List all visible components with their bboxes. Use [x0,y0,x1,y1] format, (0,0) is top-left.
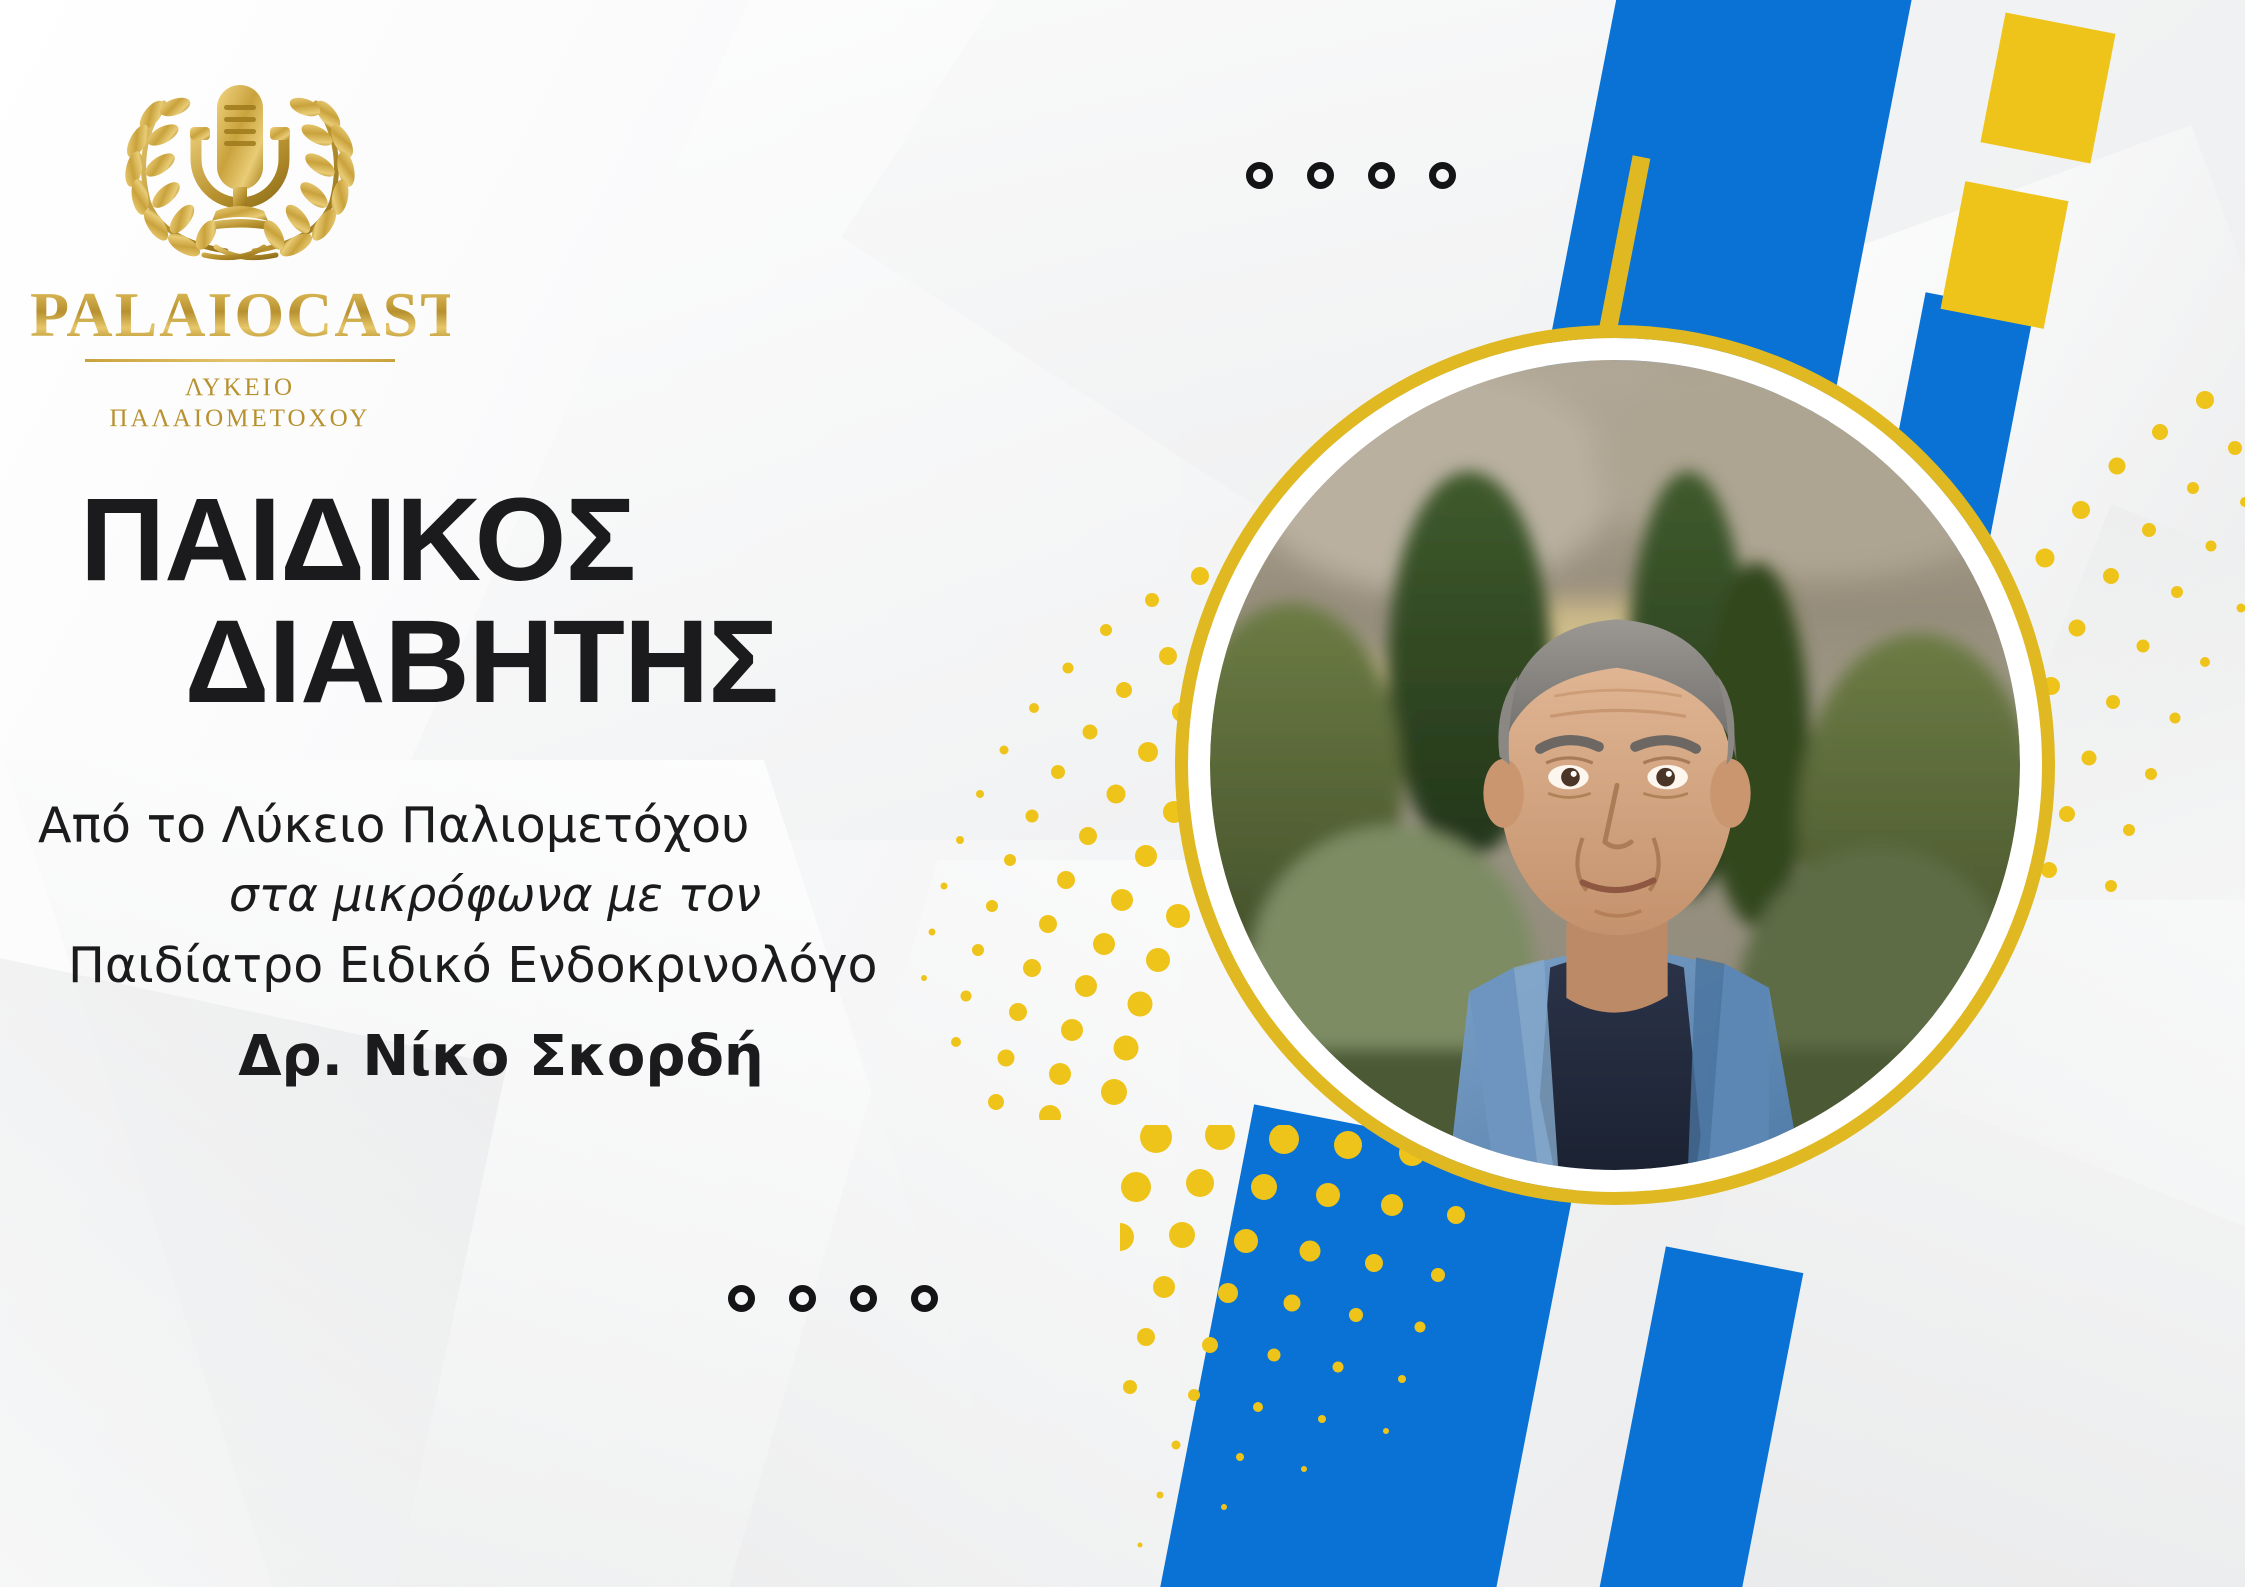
blue-ribbon-bottom-small [1567,1246,1804,1587]
palaiocast-logo: PALAIOCAST ΛΥΚΕΙΟ ΠΑΛΑΙΟΜΕΤΟΧΟΥ [30,55,450,435]
headline-line-2: ΔΙΑΒΗΤΗΣ [58,602,1068,724]
ring-dot-icon [1429,162,1456,189]
logo-subtitle-line1: ΛΥΚΕΙΟ [30,372,450,403]
yellow-square-second [1941,181,2069,329]
podcast-promo-poster: PALAIOCAST ΛΥΚΕΙΟ ΠΑΛΑΙΟΜΕΤΟΧΟΥ ΠΑΙΔΙΚΟΣ… [0,0,2245,1587]
ring-dot-row-top [1246,162,1456,189]
headline-line-1: ΠΑΙΔΙΚΟΣ [58,480,1068,602]
guest-name: Δρ. Νίκο Σκορδή [20,1016,1030,1098]
ring-dot-icon [1307,162,1334,189]
blurb-line-1: Από το Λύκειο Παλιομετόχου [20,790,1030,862]
blurb-line-2: στα μικρόφωνα με τον [20,862,1030,931]
episode-description: Από το Λύκειο Παλιομετόχου στα μικρόφωνα… [20,790,1030,1097]
blurb-line-3: Παιδίατρο Ειδικό Ενδοκρινολόγο [20,930,1030,1002]
logo-subtitle-line2: ΠΑΛΑΙΟΜΕΤΟΧΟΥ [30,403,450,434]
yellow-square-top [1980,13,2115,164]
avatar [1175,325,2055,1205]
ring-dot-icon [1368,162,1395,189]
ring-dot-icon [850,1285,877,1312]
page-title: ΠΑΙΔΙΚΟΣ ΔΙΑΒΗΤΗΣ [58,480,1068,723]
portrait-gold-ring [1175,325,2055,1205]
ring-dot-icon [1246,162,1273,189]
ring-dot-icon [728,1285,755,1312]
ring-dot-icon [789,1285,816,1312]
ring-dot-row-bottom [728,1285,938,1312]
logo-divider [85,359,395,362]
ring-dot-icon [911,1285,938,1312]
laurel-microphone-icon [30,55,450,285]
logo-wordmark: PALAIOCAST [30,283,450,347]
